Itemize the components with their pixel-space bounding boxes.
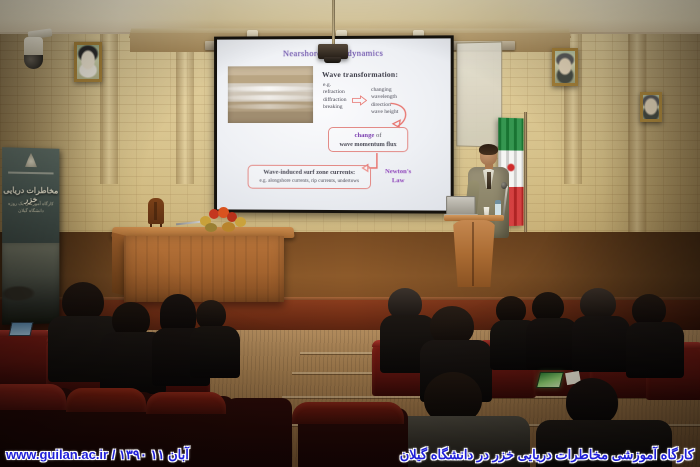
flux-emphasis-line: change of [329, 132, 407, 139]
chair-slat [154, 202, 157, 220]
slide-section-heading: Wave transformation: [322, 70, 398, 79]
banner-rule [8, 172, 53, 175]
podium [448, 215, 500, 287]
microphone-icon [501, 182, 507, 189]
whiteboard [456, 41, 502, 147]
laptop-lid [446, 196, 475, 215]
caption-url-date: www.guilan.ac.ir / ۱۳۹۰ آبان ۱۱ [6, 447, 189, 463]
right-arrow-icon [352, 95, 367, 106]
projector-mount-rod [332, 0, 335, 46]
desk-front-panel [124, 236, 284, 302]
presentation-slide: Nearshore Hydrodynamics Wave transformat… [217, 38, 451, 210]
law-line1: Newton's [376, 167, 420, 176]
newtons-law-label: Newton's Law [376, 167, 420, 185]
wall-pillar [100, 34, 118, 184]
presenter-hair [479, 144, 498, 155]
audience-laptop-green [536, 372, 564, 388]
audience-body [572, 316, 630, 372]
podium-body [450, 220, 498, 287]
surf-line1: Wave-induced surf zone currents: [249, 169, 370, 176]
foreground-seat-rim [292, 402, 404, 424]
audience-laptop [9, 322, 34, 336]
wall-pillar [628, 34, 646, 234]
banner-subtitle-line2: دانشگاه گیلان [2, 207, 59, 214]
flag-pole [524, 112, 527, 236]
wall-portrait-right [552, 48, 578, 86]
surf-line2: e.g. alongshore currents, rip currents, … [249, 178, 370, 184]
flower [235, 217, 246, 227]
auditorium-photo: Nearshore Hydrodynamics Wave transformat… [0, 0, 700, 467]
presenter-tie [487, 172, 491, 189]
slide-surf-box: Wave-induced surf zone currents: e.g. al… [248, 165, 371, 189]
slide-cause-list: e.g. refraction diffraction breaking [323, 82, 346, 112]
flux-emphasis: change [355, 132, 375, 139]
caption-event-title: کارگاه آموزشی مخاطرات دریایی خزر در دانش… [400, 447, 694, 463]
slide-flux-box: change of wave momentum flux [328, 127, 408, 152]
foam-line [228, 95, 313, 100]
cause-item: refraction [323, 89, 346, 96]
audience-body [190, 326, 240, 378]
event-banner: مخاطرات دریایی خزر کارگاه آموزشی یک روزه… [2, 147, 59, 325]
cause-item: breaking [323, 104, 346, 111]
wall-portrait-far-right [640, 92, 662, 122]
flower-arrangement [196, 206, 252, 234]
flux-emphasis-tail: of [374, 132, 381, 139]
foam-line [228, 86, 313, 91]
portrait-figure [555, 51, 575, 83]
flower [222, 222, 235, 232]
banner-subtitle: کارگاه آموزشی یک روزه دانشگاه گیلان [2, 200, 59, 215]
foam-line [228, 104, 313, 109]
flux-line2: wave momentum flux [329, 141, 407, 148]
foreground-seat [226, 398, 292, 467]
wood-grain [124, 236, 284, 302]
audience-head [566, 378, 618, 426]
slide-beach-photo [228, 66, 313, 123]
projector-lens-icon [324, 57, 341, 63]
effect-item: changing [371, 87, 398, 94]
university-logo-icon [25, 153, 37, 167]
wall-pillar [176, 34, 194, 184]
portrait-figure [643, 95, 659, 119]
auditorium-seat [0, 330, 52, 388]
wall-portrait-left [74, 42, 102, 82]
foreground-seat-rim [0, 384, 66, 410]
audience-body [626, 322, 684, 378]
portrait-figure [77, 45, 99, 79]
podium-seam [472, 222, 474, 286]
audience-body [526, 318, 578, 370]
screen-surface: Nearshore Hydrodynamics Wave transformat… [217, 38, 451, 210]
cause-item: diffraction [323, 97, 346, 104]
foreground-seat-rim [66, 388, 146, 412]
flower [205, 223, 217, 232]
foreground-seat-rim [146, 392, 226, 414]
law-line2: Law [376, 176, 420, 185]
banner-photo [2, 243, 59, 325]
